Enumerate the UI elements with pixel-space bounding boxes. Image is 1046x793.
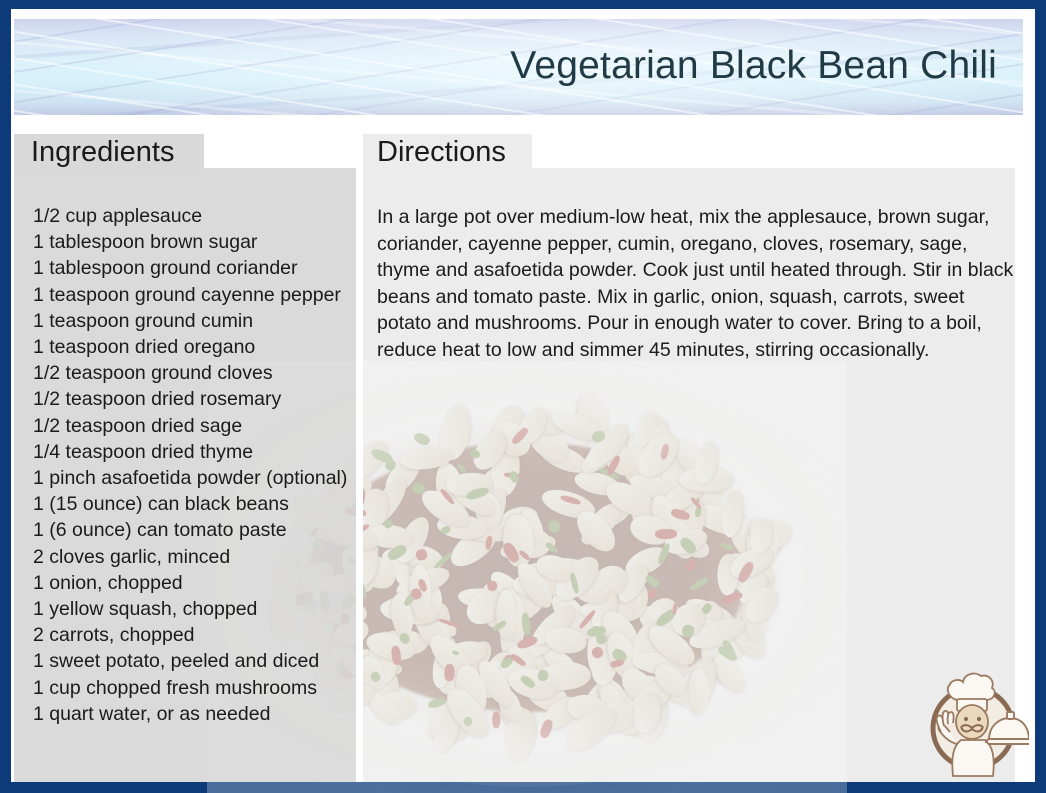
title-banner: Vegetarian Black Bean Chili [14, 19, 1023, 115]
tab-ingredients[interactable]: Ingredients [14, 134, 204, 171]
ingredient-item: 1 pinch asafoetida powder (optional) [33, 465, 363, 491]
tab-ingredients-label: Ingredients [31, 136, 175, 169]
ingredient-item: 1/2 teaspoon dried rosemary [33, 386, 363, 412]
ingredient-item: 2 carrots, chopped [33, 622, 363, 648]
ingredient-item: 1 teaspoon ground cumin [33, 308, 363, 334]
recipe-page: Vegetarian Black Bean Chili Ingredients … [11, 9, 1035, 782]
ingredient-item: 1/4 teaspoon dried thyme [33, 439, 363, 465]
tab-directions[interactable]: Directions [363, 134, 532, 171]
tab-directions-label: Directions [377, 136, 506, 169]
ingredient-item: 1 sweet potato, peeled and diced [33, 648, 363, 674]
ingredient-list: 1/2 cup applesauce1 tablespoon brown sug… [33, 203, 363, 727]
ingredient-item: 1/2 teaspoon dried sage [33, 413, 363, 439]
ingredient-item: 1 teaspoon dried oregano [33, 334, 363, 360]
ingredient-item: 1/2 teaspoon ground cloves [33, 360, 363, 386]
chef-logo [917, 654, 1029, 782]
ingredient-item: 1 tablespoon brown sugar [33, 229, 363, 255]
page-title: Vegetarian Black Bean Chili [510, 44, 997, 88]
ingredient-item: 1 tablespoon ground coriander [33, 255, 363, 281]
recipe-card: Vegetarian Black Bean Chili Ingredients … [0, 0, 1046, 792]
ingredient-item: 2 cloves garlic, minced [33, 544, 363, 570]
ingredient-item: 1 cup chopped fresh mushrooms [33, 675, 363, 701]
ingredient-item: 1/2 cup applesauce [33, 203, 363, 229]
ingredient-item: 1 yellow squash, chopped [33, 596, 363, 622]
directions-body: In a large pot over medium-low heat, mix… [377, 204, 1022, 363]
ingredient-item: 1 onion, chopped [33, 570, 363, 596]
ingredient-item: 1 quart water, or as needed [33, 701, 363, 727]
ingredient-item: 1 (6 ounce) can tomato paste [33, 517, 363, 543]
ingredient-item: 1 teaspoon ground cayenne pepper [33, 282, 363, 308]
ingredient-item: 1 (15 ounce) can black beans [33, 491, 363, 517]
